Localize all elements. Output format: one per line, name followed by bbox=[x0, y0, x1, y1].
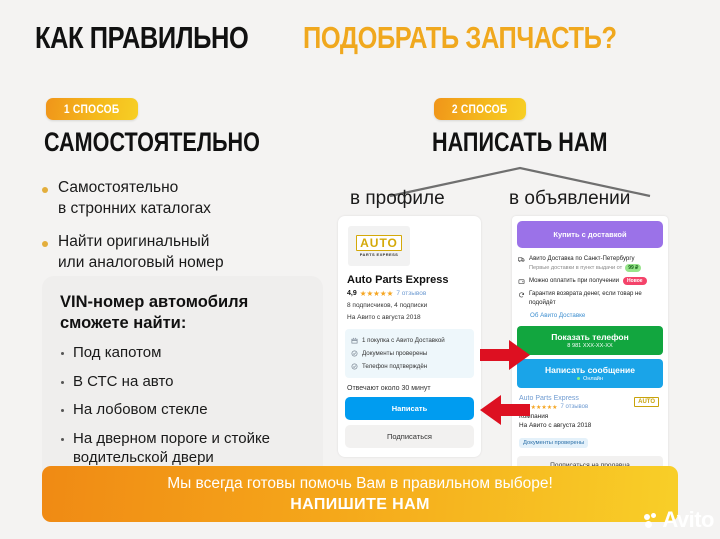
delivery-text: Гарантия возврата денег, если товар не п… bbox=[529, 290, 662, 306]
method-one-heading-text: САМОСТОЯТЕЛЬНО bbox=[44, 129, 260, 156]
ad-card: Купить с доставкой Авито Доставка по Сан… bbox=[512, 216, 668, 480]
ad-column-label: в объявлении bbox=[509, 188, 630, 210]
profile-rating: 4,9 ★★★★★ 7 отзывов bbox=[347, 289, 474, 298]
truck-icon bbox=[518, 256, 525, 263]
list-item: Найти оригинальный или аналоговый номер bbox=[42, 232, 322, 273]
online-status-label: Онлайн bbox=[583, 376, 603, 382]
delivery-text: Можно оплатить при получении bbox=[529, 277, 619, 285]
delivery-box-icon bbox=[351, 337, 358, 344]
method-one-heading: САМОСТОЯТЕЛЬНО bbox=[44, 129, 314, 156]
vin-info-card: VIN-номер автомобиля сможете найти: Под … bbox=[42, 276, 323, 484]
method-two-heading: НАПИСАТЬ НАМ bbox=[432, 129, 651, 156]
show-phone-number: 8 981 XXX-XX-XX bbox=[517, 343, 663, 349]
profile-answer-time: Отвечают около 30 минут bbox=[347, 385, 474, 392]
avito-wordmark: Avito bbox=[662, 507, 714, 533]
title-orange-part: ПОДОБРАТЬ ЗАПЧАСТЬ? bbox=[303, 22, 617, 53]
new-pill: Новое bbox=[623, 277, 647, 285]
avito-dots-icon bbox=[644, 513, 659, 528]
wallet-icon bbox=[518, 278, 525, 285]
delivery-info-list: Авито Доставка по Санкт-Петербургу Первы… bbox=[518, 255, 662, 319]
star-rating-icon: ★★★★★ bbox=[531, 404, 558, 411]
online-status: Онлайн bbox=[517, 376, 663, 382]
delivery-subtext: Первые доставки в пункт выдачи от 99 ₽ bbox=[529, 264, 641, 272]
show-phone-label: Показать телефон bbox=[517, 332, 663, 342]
buy-with-delivery-button[interactable]: Купить с доставкой bbox=[517, 221, 663, 248]
title-black-part: КАК ПРАВИЛЬНО bbox=[35, 22, 248, 53]
profile-member-since: На Авито с августа 2018 bbox=[347, 314, 474, 323]
check-circle-icon bbox=[351, 363, 358, 370]
star-rating-icon: ★★★★★ bbox=[360, 289, 394, 298]
list-item: Документы проверены bbox=[350, 347, 469, 360]
list-item: На лобовом стекле bbox=[60, 400, 305, 420]
footer-banner: Мы всегда готовы помочь Вам в правильном… bbox=[42, 466, 678, 522]
bullet-dot-icon bbox=[42, 241, 48, 247]
profile-logo: AUTO PARTS EXPRESS bbox=[348, 226, 410, 266]
seller-reviews-link[interactable]: 7 отзывов bbox=[561, 404, 589, 410]
poster-root: КАК ПРАВИЛЬНО ПОДОБРАТЬ ЗАПЧАСТЬ? 1 СПОС… bbox=[0, 0, 720, 539]
list-item: Телефон подтверждён bbox=[350, 360, 469, 373]
send-message-label: Написать сообщение bbox=[517, 365, 663, 375]
method-one-badge: 1 СПОСОБ bbox=[46, 98, 138, 120]
seller-member-since: На Авито с августа 2018 bbox=[519, 422, 661, 429]
chip-label: Телефон подтверждён bbox=[362, 363, 427, 370]
list-item: Гарантия возврата денег, если товар не п… bbox=[518, 290, 662, 306]
page-title: КАК ПРАВИЛЬНО ПОДОБРАТЬ ЗАПЧАСТЬ? bbox=[0, 22, 720, 53]
seller-block: AUTO Auto Parts Express 4,9 ★★★★★ 7 отзы… bbox=[519, 395, 661, 449]
chip-label: 1 покупка с Авито Доставкой bbox=[362, 337, 445, 344]
profile-card: AUTO PARTS EXPRESS Auto Parts Express 4,… bbox=[338, 216, 481, 457]
arrow-left-icon bbox=[478, 393, 532, 427]
profile-column-label: в профиле bbox=[350, 188, 445, 210]
list-item: 1 покупка с Авито Доставкой bbox=[350, 334, 469, 347]
footer-line-2: НАПИШИТЕ НАМ bbox=[290, 496, 430, 514]
seller-verified-badge: Документы проверены bbox=[519, 438, 588, 448]
profile-logo-main: AUTO bbox=[356, 235, 402, 251]
method-one-bullet-list: Самостоятельно в стронних каталогах Найт… bbox=[42, 178, 322, 286]
profile-badges: 1 покупка с Авито Доставкой Документы пр… bbox=[345, 329, 474, 378]
show-phone-button[interactable]: Показать телефон 8 981 XXX-XX-XX bbox=[517, 326, 663, 355]
price-pill: 99 ₽ bbox=[625, 264, 641, 272]
method-two-badge-label: 2 СПОСОБ bbox=[452, 102, 508, 116]
vin-location-list: Под капотом В СТС на авто На лобовом сте… bbox=[60, 343, 305, 468]
rating-value: 4,9 bbox=[347, 290, 357, 297]
bullet-dot-icon bbox=[42, 187, 48, 193]
bullet-text: Найти оригинальный или аналоговый номер bbox=[58, 232, 224, 273]
delivery-sub-label: Первые доставки в пункт выдачи от bbox=[529, 265, 622, 271]
list-item: Под капотом bbox=[60, 343, 305, 363]
vin-card-title: VIN-номер автомобиля сможете найти: bbox=[60, 292, 305, 334]
footer-line-1: Мы всегда готовы помочь Вам в правильном… bbox=[167, 475, 553, 493]
subscribe-button[interactable]: Подписаться bbox=[345, 425, 474, 448]
bullet-text: Самостоятельно в стронних каталогах bbox=[58, 178, 211, 219]
profile-name: Auto Parts Express bbox=[347, 274, 474, 286]
return-icon bbox=[518, 291, 525, 298]
list-item: Можно оплатить при получении Новое bbox=[518, 277, 662, 285]
method-two-heading-text: НАПИСАТЬ НАМ bbox=[432, 129, 607, 156]
list-item: Самостоятельно в стронних каталогах bbox=[42, 178, 322, 219]
profile-logo-sub: PARTS EXPRESS bbox=[360, 252, 398, 257]
list-item: На дверном пороге и стойке водительской … bbox=[60, 429, 305, 468]
method-one-badge-label: 1 СПОСОБ bbox=[64, 102, 120, 116]
chip-label: Документы проверены bbox=[362, 350, 427, 357]
check-circle-icon bbox=[351, 350, 358, 357]
delivery-text: Авито Доставка по Санкт-Петербургу bbox=[529, 255, 641, 263]
send-message-button[interactable]: Написать сообщение Онлайн bbox=[517, 359, 663, 388]
about-delivery-link[interactable]: Об Авито Доставке bbox=[530, 312, 662, 319]
reviews-link[interactable]: 7 отзывов bbox=[396, 290, 426, 297]
list-item: Авито Доставка по Санкт-Петербургу Первы… bbox=[518, 255, 662, 272]
avito-logo: Avito bbox=[644, 507, 714, 533]
seller-type: Компания bbox=[519, 413, 661, 420]
method-two-badge: 2 СПОСОБ bbox=[434, 98, 526, 120]
arrow-right-icon bbox=[478, 338, 532, 372]
profile-followers: 8 подписчиков, 4 подписки bbox=[347, 302, 474, 311]
online-dot-icon bbox=[577, 377, 580, 380]
seller-logo: AUTO bbox=[634, 397, 659, 407]
list-item: В СТС на авто bbox=[60, 372, 305, 392]
write-button[interactable]: Написать bbox=[345, 397, 474, 420]
